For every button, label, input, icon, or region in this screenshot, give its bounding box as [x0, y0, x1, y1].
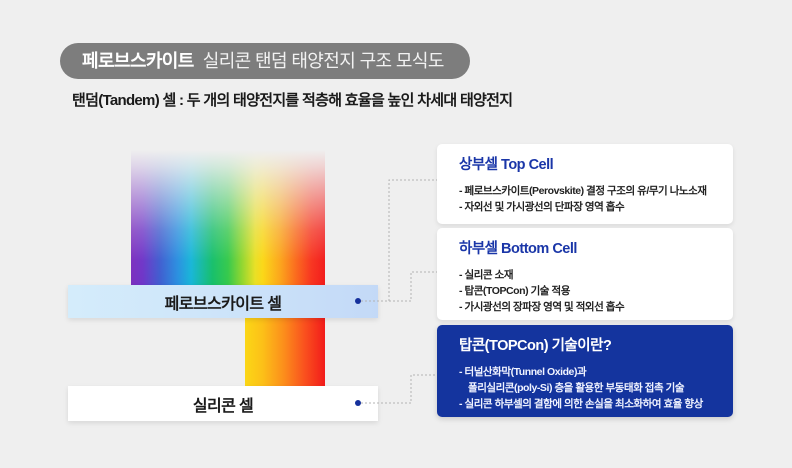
panel-bottom-cell-title: 하부셀 Bottom Cell [459, 242, 715, 258]
panel-top-cell-title: 상부셀 Top Cell [459, 158, 715, 174]
panel-top-cell-line-2: - 자외선 및 가시광선의 단파장 영역 흡수 [459, 199, 715, 215]
layer-label-perovskite: 페로브스카이트 셀 [165, 290, 282, 314]
spectrum-top-fade [131, 150, 325, 288]
panel-topcon-title: 탑콘(TOPCon) 기술이란? [459, 339, 715, 355]
connector-dot-silicon [355, 400, 361, 406]
connector-dot-perovskite [355, 298, 361, 304]
panel-topcon-line-3: - 실리콘 하부셀의 결함에 의한 손실을 최소화하여 효율 향상 [459, 396, 715, 412]
page-title-pill: 페로브스카이트 실리콘 탠덤 태양전지 구조 모식도 [60, 43, 470, 79]
panel-topcon-line-2: 폴리실리콘(poly-Si) 층을 활용한 부동태화 접촉 기술 [459, 380, 715, 396]
layer-label-silicon: 실리콘 셀 [193, 392, 253, 416]
layer-bar-perovskite: 페로브스카이트 셀 [68, 285, 378, 318]
spectrum-full-band [131, 150, 325, 288]
panel-top-cell-line-1: - 페로브스카이트(Perovskite) 결정 구조의 유/무기 나노소재 [459, 183, 715, 199]
panel-topcon[interactable]: 탑콘(TOPCon) 기술이란? - 터널산화막(Tunnel Oxide)과 … [437, 325, 733, 417]
panel-topcon-line-1: - 터널산화막(Tunnel Oxide)과 [459, 364, 715, 380]
panel-bottom-cell-line-2: - 탑콘(TOPCon) 기술 적용 [459, 283, 715, 299]
tandem-cell-diagram: 페로브스카이트 셀 실리콘 셀 [60, 140, 400, 430]
panel-bottom-cell[interactable]: 하부셀 Bottom Cell - 실리콘 소재 - 탑콘(TOPCon) 기술… [437, 228, 733, 320]
page-subtitle: 탠덤(Tandem) 셀 : 두 개의 태양전지를 적층해 효율을 높인 차세대… [72, 89, 512, 110]
page-title-rest: 실리콘 탠덤 태양전지 구조 모식도 [203, 52, 444, 70]
page-title-strong: 페로브스카이트 [82, 52, 194, 70]
panel-top-cell[interactable]: 상부셀 Top Cell - 페로브스카이트(Perovskite) 결정 구조… [437, 144, 733, 224]
layer-bar-silicon: 실리콘 셀 [68, 386, 378, 421]
panel-bottom-cell-line-3: - 가시광선의 장파장 영역 및 적외선 흡수 [459, 299, 715, 315]
panel-bottom-cell-line-1: - 실리콘 소재 [459, 267, 715, 283]
